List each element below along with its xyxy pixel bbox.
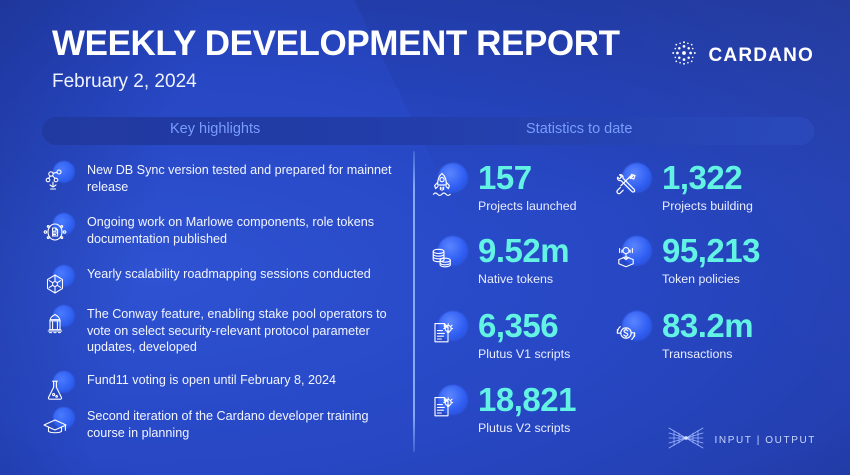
stat-native-tokens: 9.52m Native tokens [424, 235, 569, 286]
stat-token-policies: 95,213 Token policies [608, 235, 760, 286]
dollar-cycle-icon [608, 310, 652, 356]
list-item-label: Second iteration of the Cardano develope… [87, 406, 398, 441]
stat-label: Native tokens [478, 272, 569, 286]
stat-value: 83.2m [662, 310, 753, 341]
stat-label: Transactions [662, 347, 753, 361]
stat-value: 95,213 [662, 235, 760, 266]
input-output-logo: INPUT | OUTPUT [666, 424, 816, 457]
stat-plutus-v2-scripts: 18,821 Plutus V2 scripts [424, 384, 576, 435]
section-bar: Key highlights Statistics to date [42, 117, 814, 145]
section-label-statistics: Statistics to date [526, 121, 632, 137]
stat-value: 6,356 [478, 310, 570, 341]
report-page: WEEKLY DEVELOPMENT REPORT February 2, 20… [0, 0, 850, 475]
input-output-butterfly-icon [666, 424, 706, 457]
column-divider [413, 151, 415, 452]
stat-transactions: 83.2m Transactions [608, 310, 753, 361]
stat-label: Plutus V2 scripts [478, 421, 576, 435]
list-item: Second iteration of the Cardano develope… [38, 406, 398, 444]
stat-plutus-v1-scripts: 6,356 Plutus V1 scripts [424, 310, 570, 361]
list-item-label: New DB Sync version tested and prepared … [87, 160, 398, 195]
stat-label: Projects building [662, 199, 753, 213]
stat-projects-launched: 157 Projects launched [424, 162, 577, 213]
list-item-label: The Conway feature, enabling stake pool … [87, 304, 398, 356]
script-bulb-icon [424, 384, 468, 430]
report-header: WEEKLY DEVELOPMENT REPORT February 2, 20… [52, 26, 620, 93]
stat-label: Plutus V1 scripts [478, 347, 570, 361]
list-item-label: Ongoing work on Marlowe components, role… [87, 212, 398, 247]
document-nodes-icon [38, 212, 76, 250]
brand-name: CARDANO [708, 45, 814, 67]
stat-label: Token policies [662, 272, 760, 286]
script-bulb-icon [424, 310, 468, 356]
page-title: WEEKLY DEVELOPMENT REPORT [52, 26, 620, 63]
list-item-label: Yearly scalability roadmapping sessions … [87, 264, 371, 283]
stat-label: Projects launched [478, 199, 577, 213]
report-date: February 2, 2024 [52, 71, 620, 93]
flask-icon [38, 370, 76, 408]
stat-projects-building: 1,322 Projects building [608, 162, 753, 213]
governance-building-icon [38, 304, 76, 342]
tools-icon [608, 162, 652, 208]
list-item: Fund11 voting is open until February 8, … [38, 370, 398, 408]
input-output-name: INPUT | OUTPUT [715, 435, 816, 446]
stat-value: 18,821 [478, 384, 576, 415]
list-item: Yearly scalability roadmapping sessions … [38, 264, 400, 302]
cardano-brand: CARDANO [671, 40, 814, 71]
graduation-cap-icon [38, 406, 76, 444]
list-item: The Conway feature, enabling stake pool … [38, 304, 398, 356]
database-sync-icon [38, 160, 76, 198]
token-policy-icon [608, 235, 652, 281]
stat-value: 9.52m [478, 235, 569, 266]
rocket-icon [424, 162, 468, 208]
coin-stack-icon [424, 235, 468, 281]
section-label-key-highlights: Key highlights [170, 121, 260, 137]
cardano-logo-icon [671, 40, 697, 71]
network-scale-icon [38, 264, 76, 302]
list-item-label: Fund11 voting is open until February 8, … [87, 370, 336, 389]
stat-value: 157 [478, 162, 577, 193]
list-item: Ongoing work on Marlowe components, role… [38, 212, 398, 250]
stat-value: 1,322 [662, 162, 753, 193]
list-item: New DB Sync version tested and prepared … [38, 160, 398, 198]
